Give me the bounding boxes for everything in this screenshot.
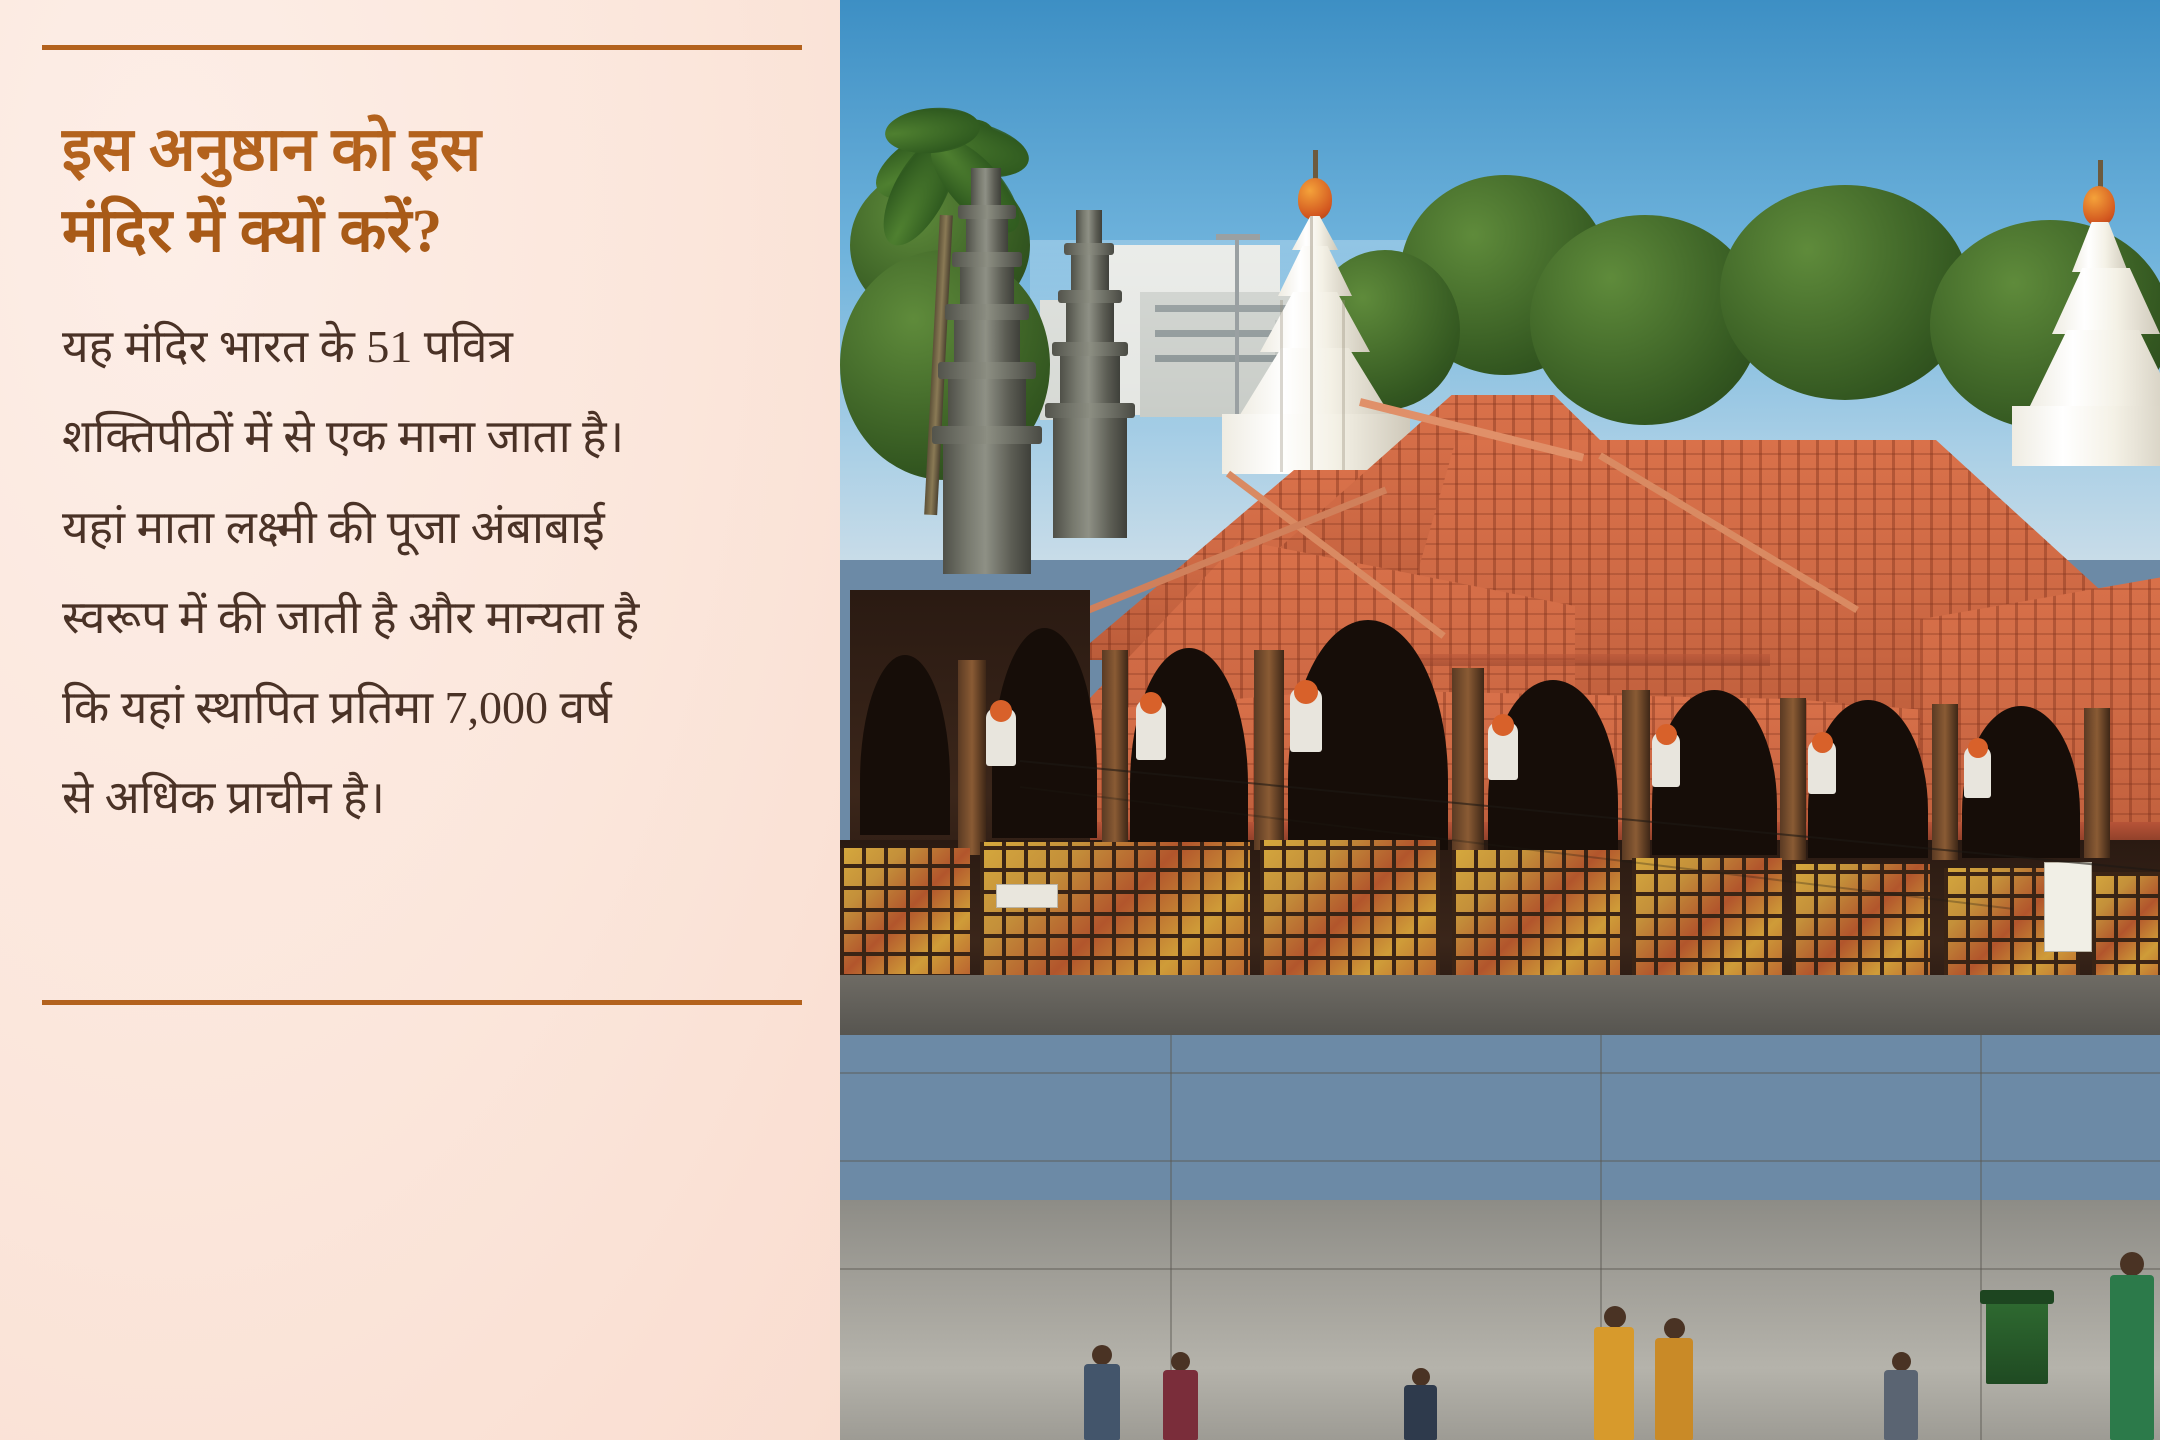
body-paragraph: यह मंदिर भारत के 51 पवित्र शक्तिपीठों मे… — [62, 302, 782, 843]
wooden-pillar — [1254, 650, 1284, 850]
deepmal-cap — [1058, 290, 1122, 303]
deepmal-top — [1076, 210, 1102, 246]
divider-bottom — [42, 1000, 802, 1005]
wooden-pillar — [958, 660, 986, 855]
deepmal-cap — [958, 205, 1016, 219]
deepmal-section — [1066, 303, 1114, 345]
visitor — [1588, 1306, 1640, 1440]
wooden-pillar — [1932, 704, 1958, 860]
figure-head-cloth — [1656, 724, 1677, 745]
deepmal-cap — [1052, 342, 1128, 356]
dustbin — [1986, 1298, 2048, 1384]
pavement-seam — [840, 1160, 2160, 1162]
shikhara-rib — [1280, 300, 1283, 472]
deepmal-section — [966, 219, 1008, 255]
body-line-2: शक्तिपीठों में से एक माना जाता है। — [62, 392, 782, 482]
heading-line-2: मंदिर में क्यों करें? — [62, 191, 782, 272]
paved-courtyard — [840, 1200, 2160, 1440]
heading-line-1: इस अनुष्ठान को इस — [62, 110, 782, 191]
wooden-pillar — [1622, 690, 1650, 860]
figure-head-cloth — [990, 700, 1012, 722]
figure-head-cloth — [1294, 680, 1318, 704]
temple-photo — [840, 0, 2160, 1440]
figure-head-cloth — [1812, 732, 1833, 753]
deepmal-base — [943, 444, 1031, 574]
tree-canopy — [1720, 185, 1970, 400]
visitor — [1650, 1318, 1698, 1440]
page-title: इस अनुष्ठान को इस मंदिर में क्यों करें? — [62, 110, 782, 272]
light-pole — [1235, 238, 1239, 418]
wooden-pillar — [2084, 708, 2110, 858]
body-line-5: कि यहां स्थापित प्रतिमा 7,000 वर्ष — [62, 663, 782, 753]
body-line-3: यहां माता लक्ष्मी की पूजा अंबाबाई — [62, 483, 782, 573]
jali-railing — [840, 848, 970, 978]
light-pole-arm — [1216, 234, 1260, 240]
deepmal-cap — [938, 362, 1036, 379]
shikhara-finial — [2083, 186, 2115, 226]
visitor — [2102, 1252, 2160, 1440]
deepmal-section — [960, 267, 1014, 307]
shikhara-rib — [1310, 216, 1313, 471]
wooden-pillar — [1102, 650, 1128, 850]
pavement-seam — [840, 1268, 2160, 1270]
visitor — [1400, 1368, 1442, 1440]
divider-top — [42, 45, 802, 50]
plinth — [840, 975, 2160, 1035]
deepmal-cap — [1045, 403, 1135, 418]
notice-board — [2044, 862, 2092, 952]
body-line-1: यह मंदिर भारत के 51 पवित्र — [62, 302, 782, 392]
signboard — [996, 884, 1058, 908]
deepmal-cap — [1064, 243, 1114, 255]
body-line-6: से अधिक प्राचीन है। — [62, 753, 782, 843]
jali-railing — [1792, 864, 1930, 984]
visitor — [1078, 1345, 1126, 1440]
poster-root: इस अनुष्ठान को इस मंदिर में क्यों करें? … — [0, 0, 2160, 1440]
pavement-seam — [1980, 1035, 1982, 1440]
deepmal-section — [1060, 356, 1120, 406]
visitor — [1880, 1352, 1924, 1440]
deepmal-section — [954, 320, 1020, 365]
visitor — [1158, 1352, 1204, 1440]
shikhara-rib — [1342, 300, 1345, 472]
figure-head-cloth — [1140, 692, 1162, 714]
text-panel: इस अनुष्ठान को इस मंदिर में क्यों करें? … — [0, 0, 840, 1440]
text-content: इस अनुष्ठान को इस मंदिर में क्यों करें? … — [62, 110, 782, 843]
deepmal-base — [1053, 418, 1127, 538]
jali-railing — [980, 842, 1250, 982]
deepmal-section — [948, 379, 1026, 429]
deepmal-top — [971, 168, 1001, 208]
deepmal-cap — [932, 426, 1042, 444]
jali-railing — [2092, 872, 2160, 986]
deepmal-cap — [945, 304, 1029, 320]
shikhara-finial — [1298, 178, 1332, 220]
jali-railing — [1452, 850, 1620, 982]
figure-head-cloth — [1968, 738, 1988, 758]
shikhara-base — [2012, 406, 2160, 466]
dustbin-lid — [1980, 1290, 2054, 1304]
jali-railing — [1260, 840, 1440, 982]
deepmal-cap — [952, 252, 1022, 267]
wooden-pillar — [1452, 668, 1484, 856]
deepmal-section — [1071, 255, 1109, 293]
pavement-seam — [840, 1072, 2160, 1074]
figure-head-cloth — [1492, 714, 1514, 736]
body-line-4: स्वरूप में की जाती है और मान्यता है — [62, 573, 782, 663]
